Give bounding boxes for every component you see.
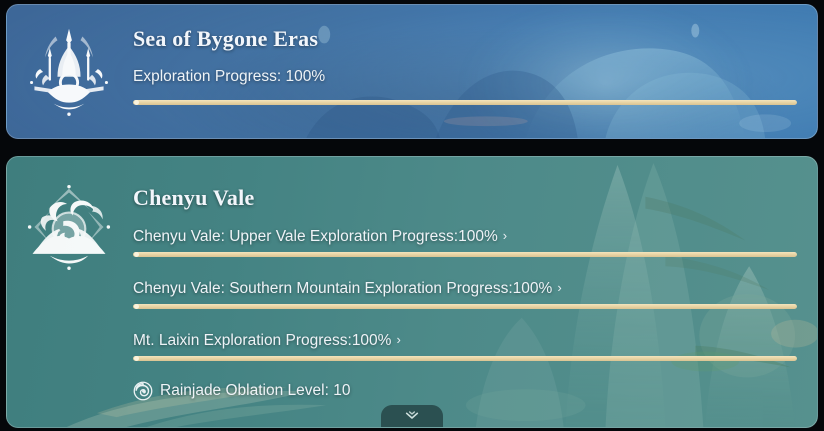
progress-entry-label: Chenyu Vale: Southern Mountain Explorati…	[133, 279, 552, 299]
progress-bar-track	[133, 304, 797, 309]
progress-bar-fill	[133, 304, 797, 309]
progress-bar-start-cap	[134, 304, 139, 309]
progress-entry-label-row[interactable]: Mt. Laixin Exploration Progress:100%›	[133, 331, 803, 351]
progress-entry-label-row[interactable]: Exploration Progress: 100%	[133, 67, 803, 87]
progress-bar-fill	[133, 356, 797, 361]
progress-bar-track	[133, 252, 797, 257]
progress-bar-start-cap	[134, 100, 139, 105]
progress-bar-fill	[133, 252, 797, 257]
progress-entry-label: Chenyu Vale: Upper Vale Exploration Prog…	[133, 227, 498, 247]
sea-of-bygone-eras-emblem-icon	[21, 23, 117, 119]
chevron-right-icon[interactable]: ›	[557, 280, 561, 295]
region-card-chenyu-vale[interactable]: Chenyu Vale Chenyu Vale: Upper Vale Expl…	[6, 156, 818, 428]
progress-entry-label-row[interactable]: Chenyu Vale: Southern Mountain Explorati…	[133, 279, 803, 299]
rainjade-oblation-row[interactable]: Rainjade Oblation Level: 10	[133, 381, 350, 401]
region-exploration-panel: Sea of Bygone Eras Exploration Progress:…	[0, 0, 824, 431]
chevron-right-icon[interactable]: ›	[503, 228, 507, 243]
scroll-down-hint[interactable]	[381, 405, 443, 427]
progress-bar-start-cap	[134, 356, 139, 361]
chevron-down-icon	[404, 410, 420, 422]
region-card-sea-of-bygone-eras[interactable]: Sea of Bygone Eras Exploration Progress:…	[6, 4, 818, 139]
progress-entry-label-row[interactable]: Chenyu Vale: Upper Vale Exploration Prog…	[133, 227, 803, 247]
rainjade-oblation-label: Rainjade Oblation Level: 10	[160, 382, 350, 400]
progress-bar-track	[133, 100, 797, 105]
progress-bar-fill	[133, 100, 797, 105]
rainjade-oblation-icon	[133, 381, 153, 401]
region-title: Sea of Bygone Eras	[133, 26, 318, 52]
region-title: Chenyu Vale	[133, 185, 254, 211]
progress-bar-start-cap	[134, 252, 139, 257]
progress-entry-label: Mt. Laixin Exploration Progress:100%	[133, 331, 391, 351]
chevron-right-icon[interactable]: ›	[396, 332, 400, 347]
chenyu-vale-emblem-icon	[21, 179, 117, 275]
progress-entry-label: Exploration Progress: 100%	[133, 67, 325, 87]
progress-bar-track	[133, 356, 797, 361]
